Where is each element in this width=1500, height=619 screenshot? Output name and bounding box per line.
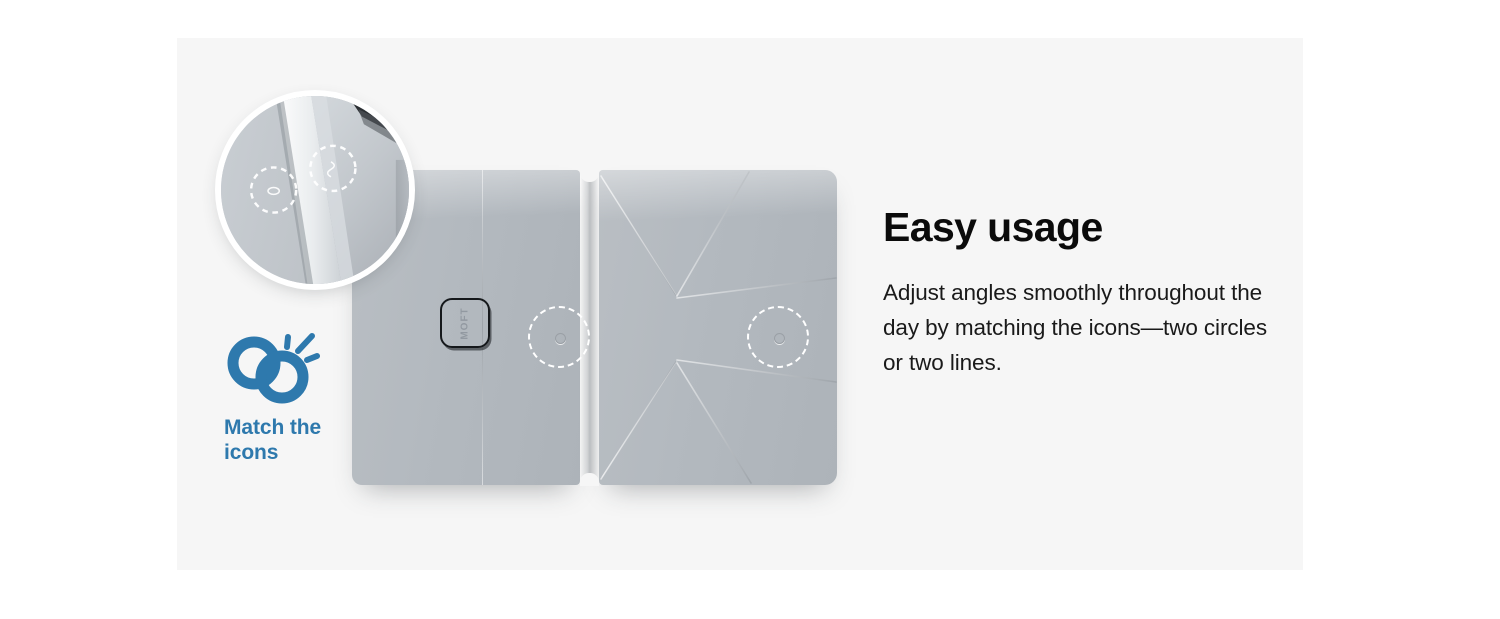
- alignment-marker-left: [528, 306, 590, 368]
- alignment-marker-right: [747, 306, 809, 368]
- moft-logo-badge: MOFT: [440, 298, 490, 348]
- feature-title: Easy usage: [883, 206, 1283, 249]
- moft-logo-text: MOFT: [459, 307, 470, 339]
- feature-copy-block: Easy usage Adjust angles smoothly throug…: [883, 206, 1283, 380]
- match-label-line-2: icons: [224, 440, 354, 465]
- match-label-line-1: Match the: [224, 415, 354, 440]
- two-circles-match-icon: [224, 331, 320, 409]
- alignment-marker-right-dot: [774, 333, 785, 344]
- tablet-folio-case: MOFT: [352, 170, 837, 485]
- match-the-icons-label: Match the icons: [224, 415, 354, 465]
- match-the-icons-badge: Match the icons: [224, 331, 354, 465]
- hinge-notch-bottom: [580, 473, 599, 486]
- closeup-detail-photo-image: [221, 96, 409, 284]
- feature-description: Adjust angles smoothly throughout the da…: [883, 275, 1283, 380]
- feature-card: MOFT: [177, 38, 1303, 570]
- closeup-detail-photo: [215, 90, 415, 290]
- alignment-marker-left-dot: [555, 333, 566, 344]
- page-root: MOFT: [0, 0, 1500, 619]
- product-image-stage: MOFT: [177, 38, 883, 570]
